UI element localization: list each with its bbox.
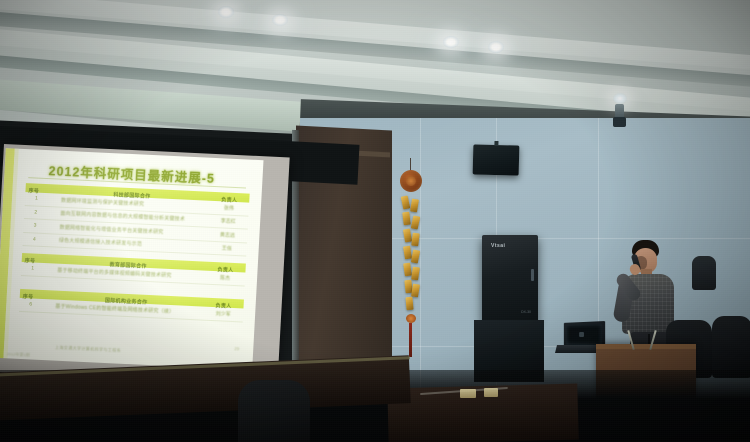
row-no: 4 [23,236,59,244]
row-owner: 陈杰 [205,273,245,282]
office-chair [712,316,750,378]
security-camera-icon [615,104,624,126]
column-header-owner: 负责人 [217,267,233,274]
desk-paper [460,389,476,398]
spotlight-icon [272,14,288,26]
projection-screen: 2012年科研项目最新进展-5 序号 科技部国际合作 负责人 1 数据网环境监测… [0,144,290,385]
spotlight-icon [488,41,504,53]
row-owner: 刘少军 [203,309,243,318]
chime-bell [403,263,412,277]
chime-bell [402,212,411,226]
chime-bell [401,195,411,209]
chime-bell [411,215,421,229]
row-owner: 王强 [207,244,247,253]
speaker-tower: Vtsai DX-30 [482,235,538,323]
speaker-brand-label: Vtsai [491,243,505,249]
slide-footer: 上海交通大学计算机科学与工程系 [55,345,121,354]
row-owner: 李志红 [208,217,248,226]
laptop-logo-icon [579,332,584,337]
column-header-owner: 负责人 [221,197,237,204]
column-header-owner: 负责人 [215,303,231,310]
mic-stand-arm [649,330,656,350]
spotlight-icon [443,36,459,48]
speaker-strip [531,269,534,281]
slide-page-number: 29 [234,346,239,351]
foreground-chair [238,380,310,442]
chime-bell [411,249,420,263]
conference-room-photo: 2012年科研项目最新进展-5 序号 科技部国际合作 负责人 1 数据网环境监测… [0,0,750,442]
slide-table-section: 序号 科技部国际合作 负责人 1 数据网环境监测与保护关键技术研究 张伟 2 面… [23,183,250,256]
chime-bell [411,267,420,281]
row-no: 3 [23,222,59,230]
column-header-no: 序号 [28,188,39,194]
chime-knot [406,314,416,323]
column-header-no: 序号 [23,294,34,300]
chime-bell [411,284,420,298]
row-owner: 张伟 [209,203,249,212]
slide-table-section: 序号 教育部国际合作 负责人 1 基于移动终端平台的多媒体视频编码关键技术研究 … [21,253,246,286]
slide-corner-tag: 2012年第1期 [6,351,29,358]
row-no: 2 [24,209,60,217]
row-owner: 黄志远 [207,230,247,239]
chime-bell [411,233,420,247]
desk-paper [484,388,498,397]
chime-bell [403,228,412,242]
laptop-screen[interactable] [566,324,601,345]
column-header-no: 序号 [25,258,36,264]
chime-tassel [409,323,412,357]
slide-table-section: 序号 国际机构业务合作 负责人 6 基于Windows CE的智能终端及网络技术… [19,289,244,322]
chime-bell [410,199,419,213]
audience-desk-right [387,384,578,442]
mic-stand-arm [627,330,634,350]
wall-light-icon [613,93,627,104]
chime-medallion-icon [400,170,422,192]
wall-speaker-icon [473,144,520,175]
spotlight-icon [218,6,234,18]
office-chair [692,256,716,290]
wind-chime-decoration [398,158,424,358]
mic-stand [626,330,660,350]
chime-bell [405,297,413,311]
presentation-slide: 2012年科研项目最新进展-5 序号 科技部国际合作 负责人 1 数据网环境监测… [0,148,264,374]
speaker-model-label: DX-30 [521,310,531,314]
